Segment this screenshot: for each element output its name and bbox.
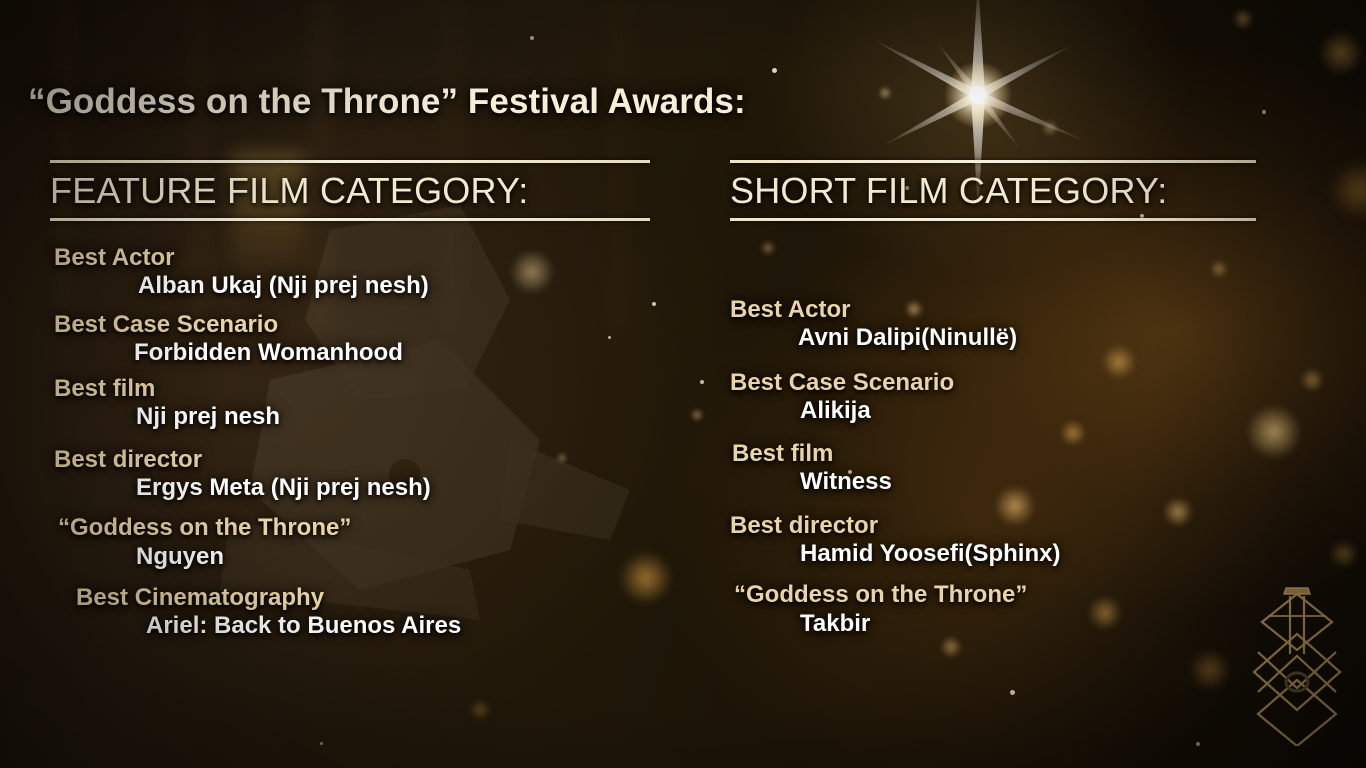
header-rule-bottom bbox=[50, 218, 650, 221]
award-label: Best Case Scenario bbox=[730, 369, 1256, 397]
award-winner: Nguyen bbox=[136, 543, 650, 571]
award-winner: Avni Dalipi(Ninullë) bbox=[798, 324, 1256, 352]
award-item: Best Case Scenario Alikija bbox=[730, 369, 1256, 426]
award-winner: Nji prej nesh bbox=[136, 403, 650, 431]
award-winner: Alikija bbox=[800, 397, 1256, 425]
award-winner: Takbir bbox=[800, 610, 1256, 638]
award-winner: Ergys Meta (Nji prej nesh) bbox=[136, 474, 650, 502]
award-label: Best Case Scenario bbox=[54, 311, 650, 339]
award-item: Best Actor Alban Ukaj (Nji prej nesh) bbox=[50, 244, 650, 301]
header-rule-bottom bbox=[730, 218, 1256, 221]
award-item: “Goddess on the Throne” Takbir bbox=[730, 581, 1256, 638]
awards-list-feature: Best Actor Alban Ukaj (Nji prej nesh) Be… bbox=[50, 244, 650, 641]
category-header-label: SHORT FILM CATEGORY: bbox=[730, 172, 1256, 211]
award-winner: Hamid Yoosefi(Sphinx) bbox=[800, 540, 1256, 568]
award-item: “Goddess on the Throne” Nguyen bbox=[50, 514, 650, 571]
award-label: Best director bbox=[730, 512, 1256, 540]
award-label: Best film bbox=[732, 440, 1256, 468]
category-header-label: FEATURE FILM CATEGORY: bbox=[50, 172, 650, 211]
award-winner: Ariel: Back to Buenos Aires bbox=[146, 612, 650, 640]
award-label: Best director bbox=[54, 446, 650, 474]
category-header-feature: FEATURE FILM CATEGORY: bbox=[50, 160, 650, 221]
award-item: Best film Witness bbox=[730, 440, 1256, 497]
award-item: Best film Nji prej nesh bbox=[50, 375, 650, 432]
award-item: Best Case Scenario Forbidden Womanhood bbox=[50, 311, 650, 368]
header-rule-top bbox=[50, 160, 650, 163]
award-item: Best director Hamid Yoosefi(Sphinx) bbox=[730, 512, 1256, 569]
award-item: Best director Ergys Meta (Nji prej nesh) bbox=[50, 446, 650, 503]
column-short-film: SHORT FILM CATEGORY: Best Actor Avni Dal… bbox=[730, 160, 1256, 638]
page-title: “Goddess on the Throne” Festival Awards: bbox=[28, 82, 746, 122]
header-rule-top bbox=[730, 160, 1256, 163]
award-winner: Alban Ukaj (Nji prej nesh) bbox=[138, 272, 650, 300]
award-label: Best film bbox=[54, 375, 650, 403]
column-feature-film: FEATURE FILM CATEGORY: Best Actor Alban … bbox=[50, 160, 650, 641]
award-label: Best Cinematography bbox=[76, 584, 650, 612]
awards-list-short: Best Actor Avni Dalipi(Ninullë) Best Cas… bbox=[730, 296, 1256, 638]
awards-slide: “Goddess on the Throne” Festival Awards:… bbox=[0, 0, 1366, 768]
award-label: Best Actor bbox=[730, 296, 1256, 324]
award-winner: Forbidden Womanhood bbox=[134, 339, 650, 367]
award-winner: Witness bbox=[800, 468, 1256, 496]
slide-content: “Goddess on the Throne” Festival Awards:… bbox=[0, 0, 1366, 768]
award-label: Best Actor bbox=[54, 244, 650, 272]
goddess-on-the-throne-logo-icon bbox=[1244, 570, 1350, 746]
award-label: “Goddess on the Throne” bbox=[58, 514, 650, 542]
category-header-short: SHORT FILM CATEGORY: bbox=[730, 160, 1256, 221]
award-label: “Goddess on the Throne” bbox=[734, 581, 1256, 609]
award-item: Best Cinematography Ariel: Back to Bueno… bbox=[50, 584, 650, 641]
award-item: Best Actor Avni Dalipi(Ninullë) bbox=[730, 296, 1256, 353]
